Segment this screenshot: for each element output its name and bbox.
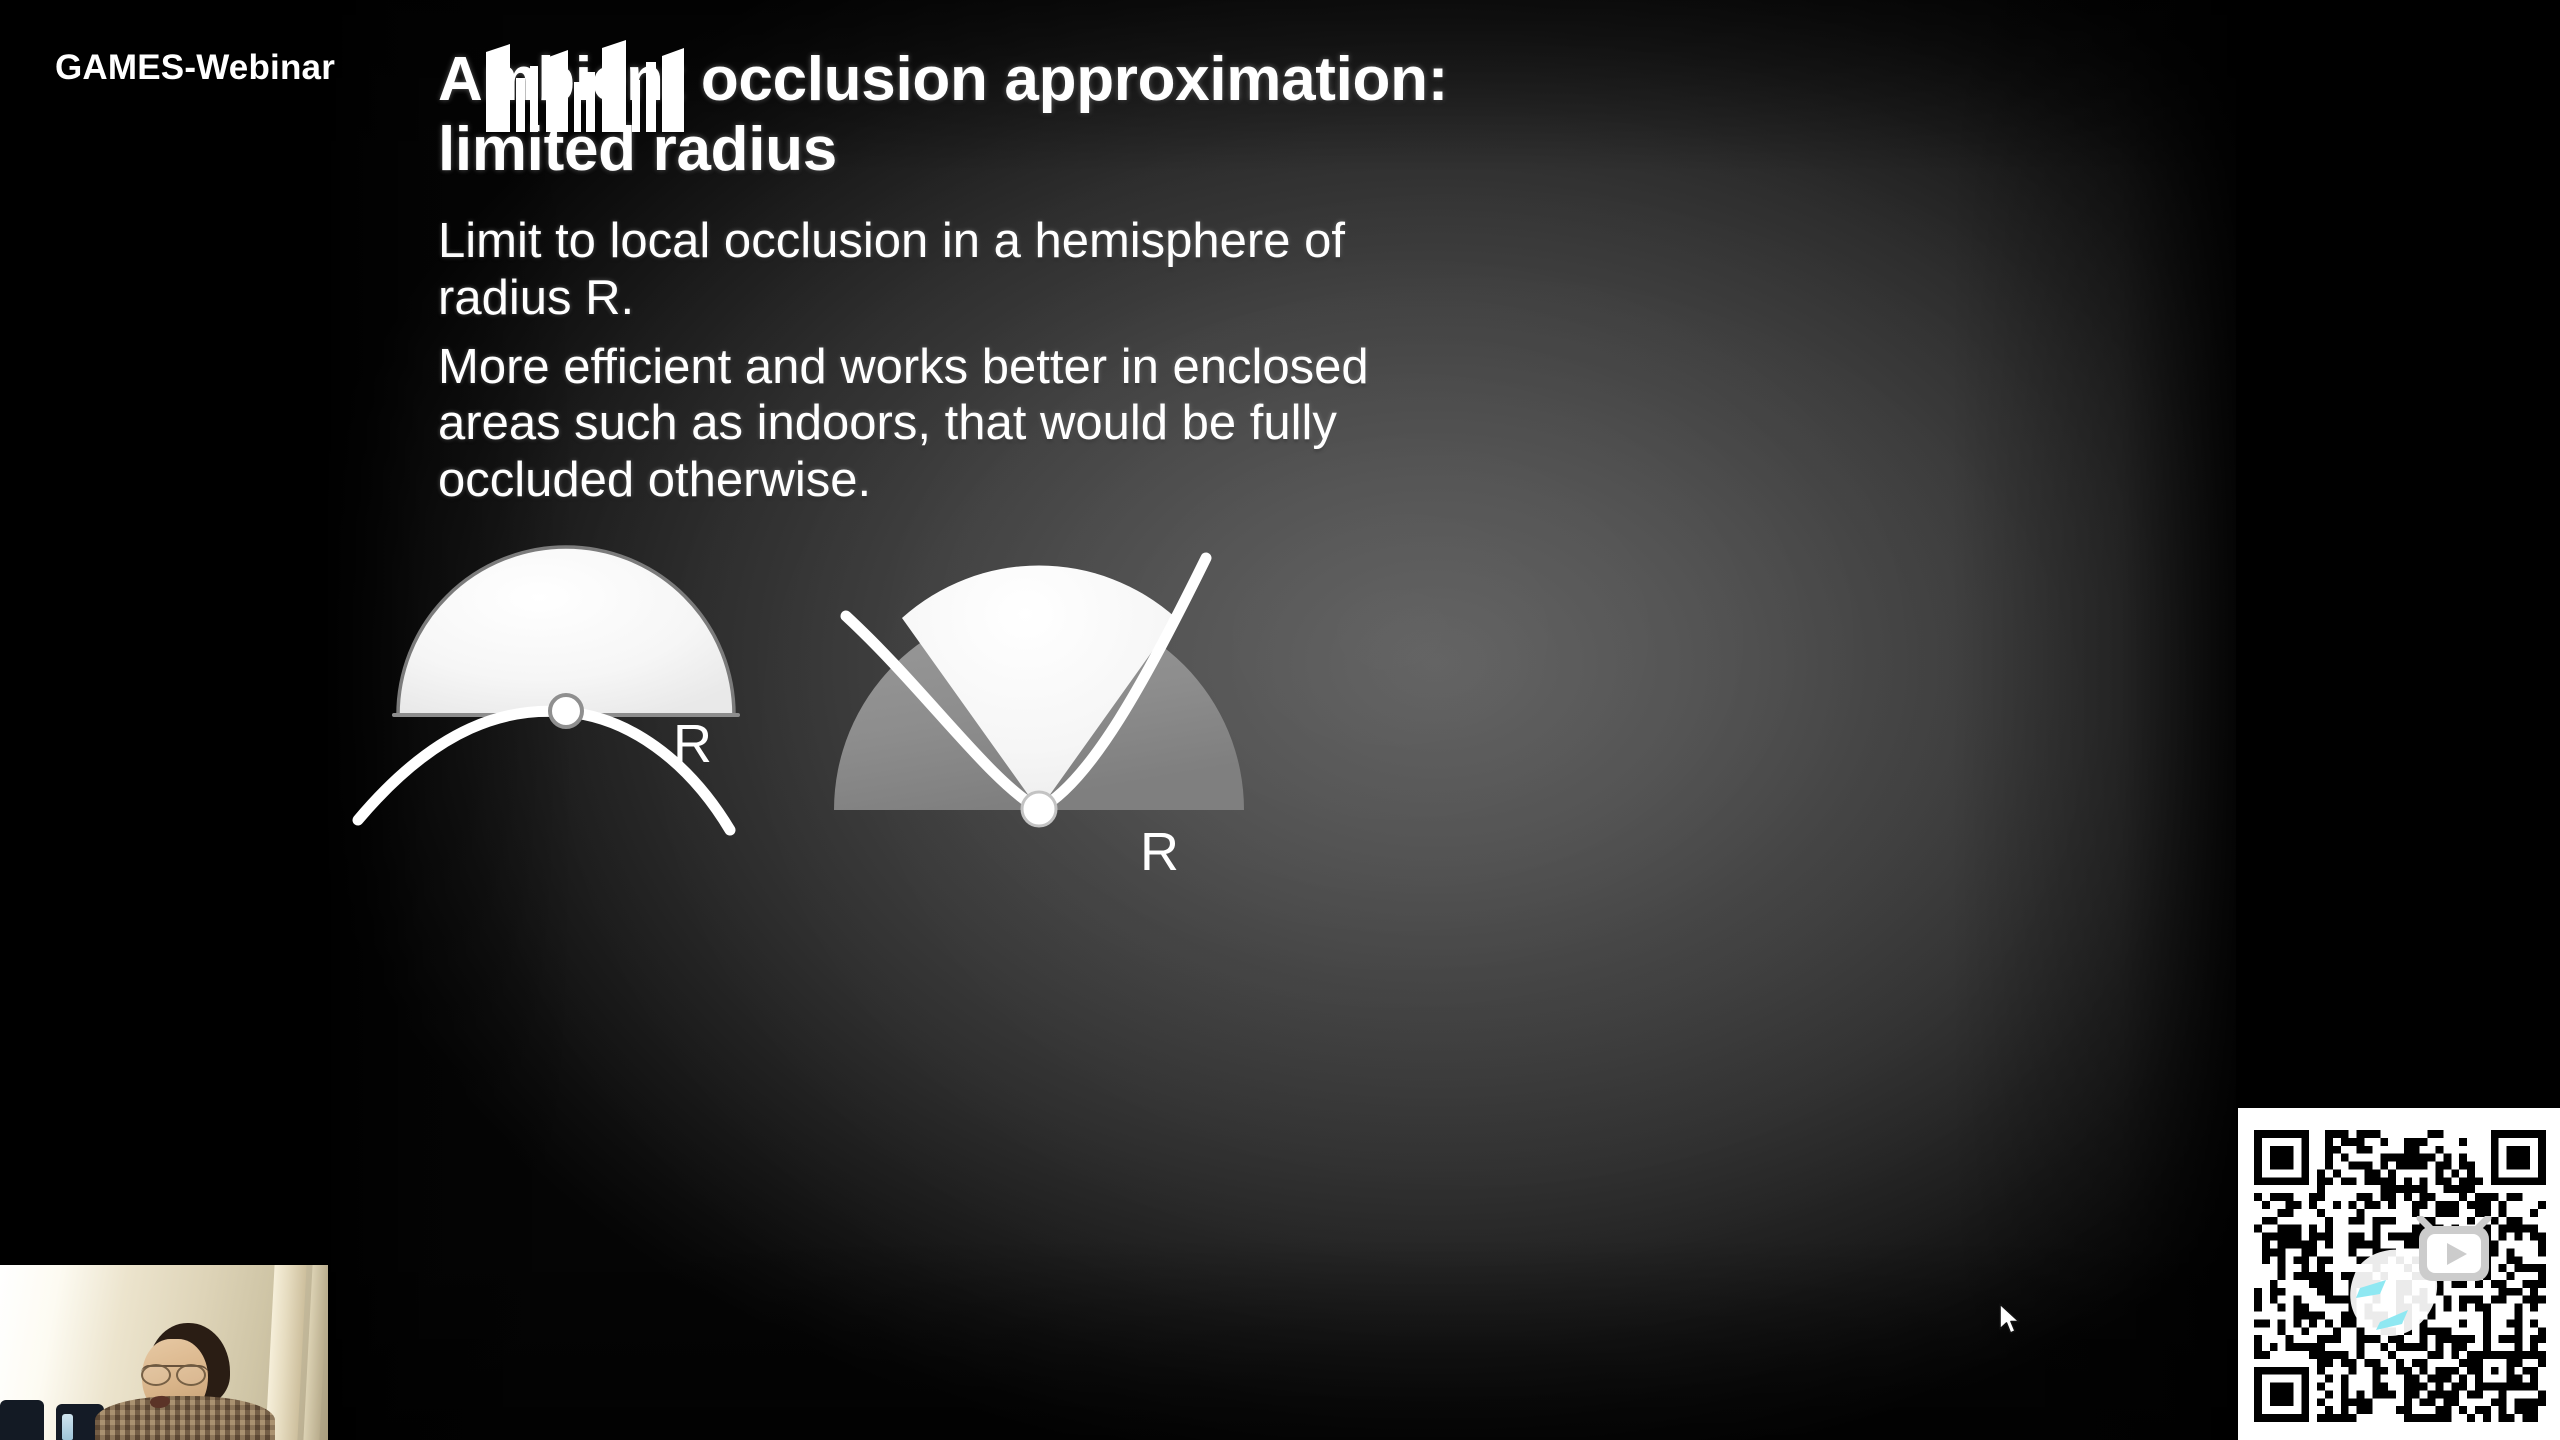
right-radius-label: R bbox=[1140, 822, 1179, 882]
left-diagram: R bbox=[358, 547, 738, 830]
slide-title-line-2: limited radius bbox=[438, 115, 2078, 185]
qr-code-image bbox=[2254, 1130, 2546, 1422]
webcam-chair-left bbox=[0, 1400, 44, 1440]
games-webinar-watermark: GAMES-Webinar bbox=[55, 48, 335, 88]
bilibili-tv-icon bbox=[2416, 1216, 2492, 1284]
slide-title: Ambient occlusion approximation: limited… bbox=[438, 45, 2078, 185]
shading-point bbox=[1022, 792, 1056, 826]
shading-point bbox=[550, 695, 582, 727]
left-radius-label: R bbox=[673, 714, 712, 774]
slide-bullet-2: More efficient and works better in enclo… bbox=[438, 339, 1438, 509]
slide-bullet-1: Limit to local occlusion in a hemisphere… bbox=[438, 213, 1438, 327]
diagram-group: R R bbox=[328, 500, 2236, 1440]
bilibili-qr-panel[interactable] bbox=[2238, 1108, 2560, 1440]
slide-title-line-1: Ambient occlusion approximation: bbox=[438, 45, 2078, 115]
screen: Ambient occlusion approximation: limited… bbox=[0, 0, 2560, 1440]
webcam-bottle bbox=[62, 1414, 73, 1440]
presenter-shirt bbox=[95, 1396, 275, 1440]
hemisphere-dome bbox=[398, 547, 734, 715]
presenter-glasses-right-lens bbox=[176, 1364, 206, 1386]
right-diagram: R bbox=[834, 558, 1244, 882]
slide-body: Limit to local occlusion in a hemisphere… bbox=[438, 213, 1438, 521]
presentation-slide: Ambient occlusion approximation: limited… bbox=[328, 0, 2236, 1440]
presenter-video-thumbnail[interactable] bbox=[0, 1265, 328, 1440]
presenter-glasses-left-lens bbox=[141, 1364, 171, 1386]
